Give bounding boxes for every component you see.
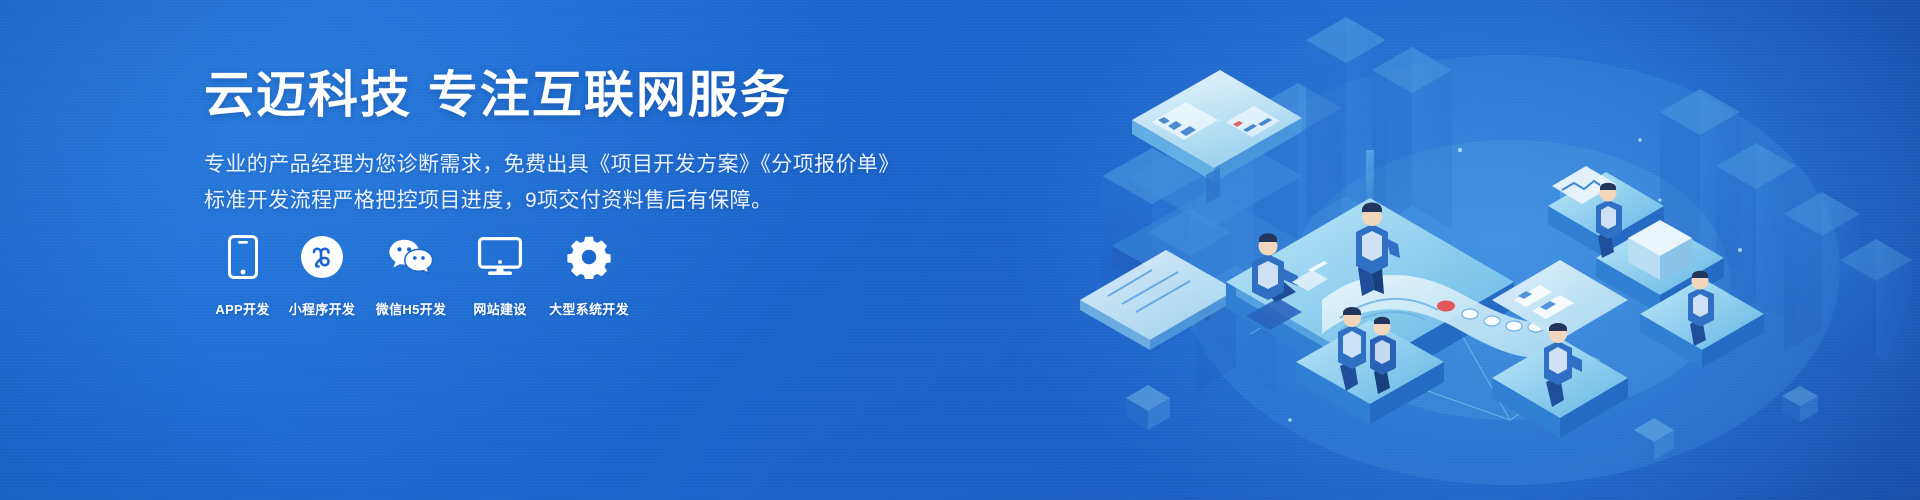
service-item-app[interactable]: APP开发 [206, 234, 279, 318]
service-label: 网站建设 [473, 299, 526, 318]
hero-subtitle: 专业的产品经理为您诊断需求，免费出具《项目开发方案》《分项报价单》 标准开发流程… [204, 147, 924, 219]
monitor-icon [477, 234, 523, 280]
service-label: APP开发 [215, 299, 269, 318]
service-label: 小程序开发 [289, 299, 356, 318]
hero-copy: 云迈科技 专注互联网服务 专业的产品经理为您诊断需求，免费出具《项目开发方案》《… [204, 66, 924, 219]
page-title: 云迈科技 专注互联网服务 [204, 66, 924, 125]
subtitle-line-1: 专业的产品经理为您诊断需求，免费出具《项目开发方案》《分项报价单》 [204, 147, 924, 183]
subtitle-line-2: 标准开发流程严格把控项目进度，9项交付资料售后有保障。 [204, 183, 924, 219]
service-item-wechat-h5[interactable]: 微信H5开发 [365, 234, 457, 318]
service-item-large-system[interactable]: 大型系统开发 [543, 234, 635, 318]
service-item-website[interactable]: 网站建设 [457, 234, 543, 318]
service-label: 大型系统开发 [549, 299, 629, 318]
service-label: 微信H5开发 [376, 299, 446, 318]
service-list: APP开发 小程序开发 [206, 234, 635, 318]
wechat-icon [388, 234, 434, 280]
service-item-miniprogram[interactable]: 小程序开发 [279, 234, 365, 318]
mobile-phone-icon [220, 234, 266, 280]
gear-icon [566, 234, 612, 280]
hero-banner: 云迈科技 专注互联网服务 专业的产品经理为您诊断需求，免费出具《项目开发方案》《… [0, 0, 1920, 500]
mini-program-icon [299, 234, 345, 280]
illustration-isometric-data-platform [1040, 0, 1920, 500]
